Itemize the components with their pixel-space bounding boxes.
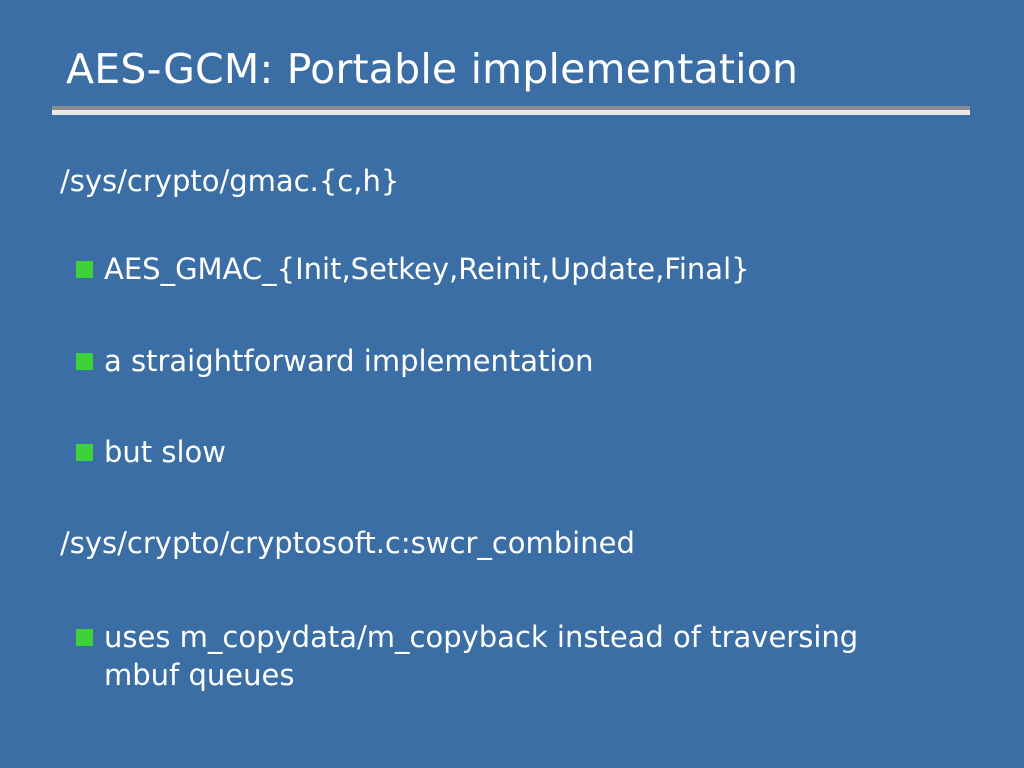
bullet-label: but slow bbox=[104, 433, 226, 471]
body-heading-gmac-path: /sys/crypto/gmac.{c,h} bbox=[60, 163, 399, 199]
bullet-item-but-slow: but slow bbox=[76, 433, 226, 471]
presentation-slide: AES-GCM: Portable implementation /sys/cr… bbox=[0, 0, 1024, 768]
body-heading-cryptosoft-path: /sys/crypto/cryptosoft.c:swcr_combined bbox=[60, 525, 635, 561]
bullet-label: a straightforward implementation bbox=[104, 342, 594, 380]
bullet-item-m-copydata: uses m_copydata/m_copyback instead of tr… bbox=[76, 618, 934, 694]
square-bullet-icon bbox=[76, 444, 93, 461]
square-bullet-icon bbox=[76, 261, 93, 278]
bullet-item-straightforward: a straightforward implementation bbox=[76, 342, 594, 380]
slide-body: /sys/crypto/gmac.{c,h} AES_GMAC_{Init,Se… bbox=[0, 0, 1024, 768]
bullet-item-gmac-functions: AES_GMAC_{Init,Setkey,Reinit,Update,Fina… bbox=[76, 250, 750, 288]
bullet-label: uses m_copydata/m_copyback instead of tr… bbox=[104, 618, 934, 694]
square-bullet-icon bbox=[76, 629, 93, 646]
bullet-label: AES_GMAC_{Init,Setkey,Reinit,Update,Fina… bbox=[104, 250, 750, 288]
square-bullet-icon bbox=[76, 353, 93, 370]
